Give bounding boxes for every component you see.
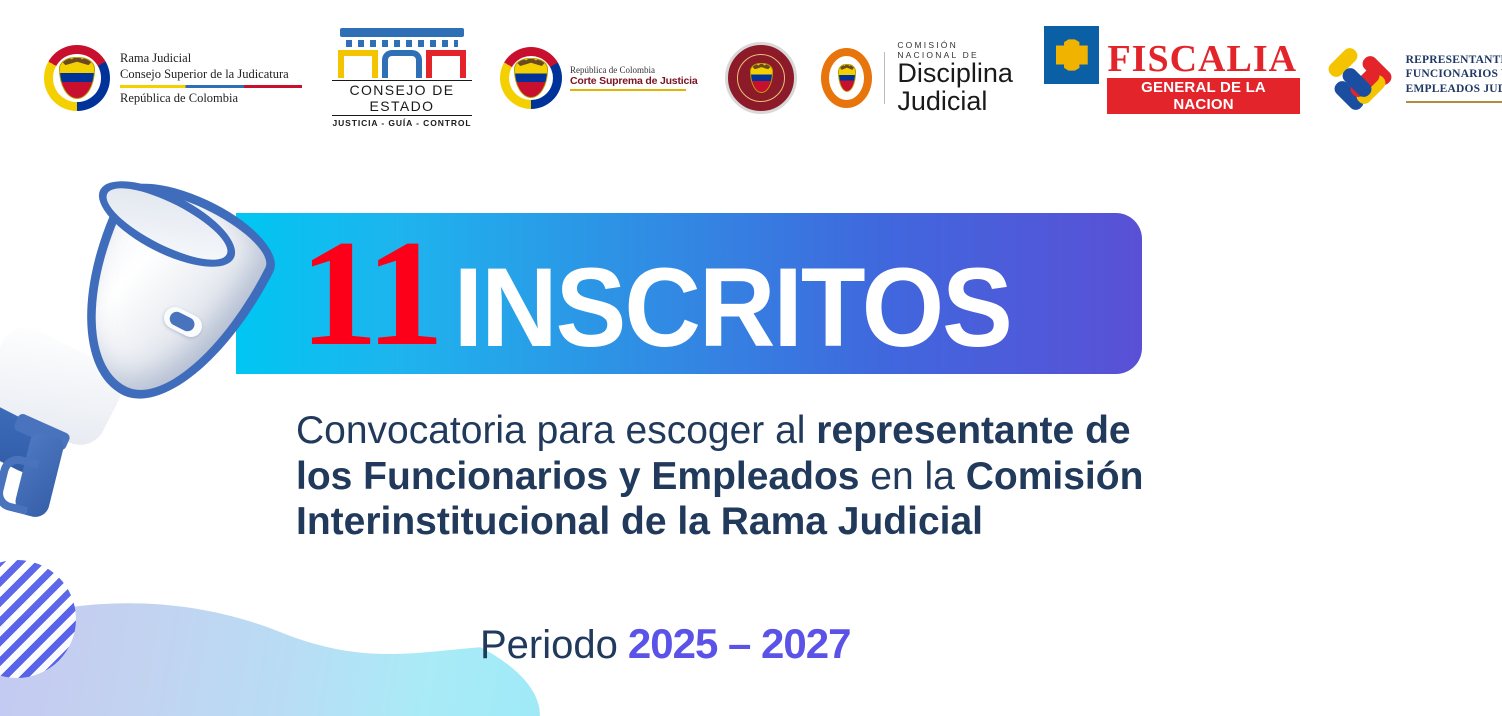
rama-judicial-line2: Consejo Superior de la Judicatura <box>120 66 302 82</box>
fiscalia-line2: GENERAL DE LA NACION <box>1107 78 1299 114</box>
disciplina-line3: Judicial <box>897 87 1022 115</box>
corte-constitucional-seal-icon <box>725 42 797 114</box>
representante-line1: REPRESENTANTE DE <box>1406 53 1502 67</box>
consejo-de-estado-arch-icon <box>332 28 472 78</box>
rama-judicial-line3: República de Colombia <box>120 91 302 106</box>
four-hands-icon <box>1322 41 1396 115</box>
convocatoria-description: Convocatoria para escoger al representan… <box>296 408 1446 545</box>
copy-line1-bold: representante de <box>816 409 1130 452</box>
logo-corte-suprema: República de Colombia Corte Suprema de J… <box>500 26 697 130</box>
corte-suprema-line2: Corte Suprema de Justicia <box>570 75 697 87</box>
consejo-de-estado-name: CONSEJO DE ESTADO <box>332 80 472 116</box>
period-label: Periodo <box>480 623 618 667</box>
gold-divider <box>570 89 686 91</box>
copy-line2-bold-a: los Funcionarios y Empleados <box>296 455 859 498</box>
logo-disciplina-judicial: COMISIÓN NACIONAL DE Disciplina Judicial <box>821 26 1022 130</box>
disciplina-line2: Disciplina <box>897 60 1022 87</box>
logo-representante-funcionarios: REPRESENTANTE DE FUNCIONARIOS Y EMPLEADO… <box>1322 26 1502 130</box>
fiscalia-line1: FISCALIA <box>1107 42 1299 77</box>
period-line: Periodo2025 – 2027 <box>480 620 850 668</box>
fiscalia-puzzle-icon <box>1044 26 1099 84</box>
megaphone-illustration <box>0 185 290 515</box>
gold-divider <box>1406 101 1502 103</box>
copy-line1-plain: Convocatoria para escoger al <box>296 409 816 452</box>
corte-suprema-line1: República de Colombia <box>570 65 697 75</box>
copy-line2-plain: en la <box>859 455 965 498</box>
rama-judicial-line1: Rama Judicial <box>120 50 302 66</box>
wave-decoration <box>0 586 540 716</box>
copy-line3-bold: Interinstitucional de la Rama Judicial <box>296 500 983 543</box>
disciplina-line1: COMISIÓN NACIONAL DE <box>897 40 1022 60</box>
logo-corte-constitucional <box>697 26 797 130</box>
representante-line3: EMPLEADOS JUDICIALES <box>1406 82 1502 96</box>
colombia-coat-of-arms-icon <box>500 47 562 109</box>
disciplina-judicial-seal-icon <box>821 48 872 108</box>
colombia-coat-of-arms-icon <box>44 45 110 111</box>
representante-line2: FUNCIONARIOS Y <box>1406 67 1502 81</box>
inscritos-label: INSCRITOS <box>454 258 1011 359</box>
logo-rama-judicial: Rama Judicial Consejo Superior de la Jud… <box>44 26 302 130</box>
period-years: 2025 – 2027 <box>628 620 851 667</box>
vertical-divider <box>884 52 885 104</box>
inscritos-count: 11 <box>299 228 440 359</box>
logo-consejo-de-estado: CONSEJO DE ESTADO JUSTICIA - GUÍA - CONT… <box>332 26 472 130</box>
copy-line2-bold-b: Comisión <box>966 455 1144 498</box>
tricolor-divider <box>120 85 302 88</box>
logo-fiscalia-general: FISCALIA GENERAL DE LA NACION <box>1044 26 1300 130</box>
inscritos-banner: 11 INSCRITOS <box>236 213 1142 374</box>
header-logo-strip: Rama Judicial Consejo Superior de la Jud… <box>0 26 1502 130</box>
consejo-de-estado-tagline: JUSTICIA - GUÍA - CONTROL <box>332 118 472 128</box>
